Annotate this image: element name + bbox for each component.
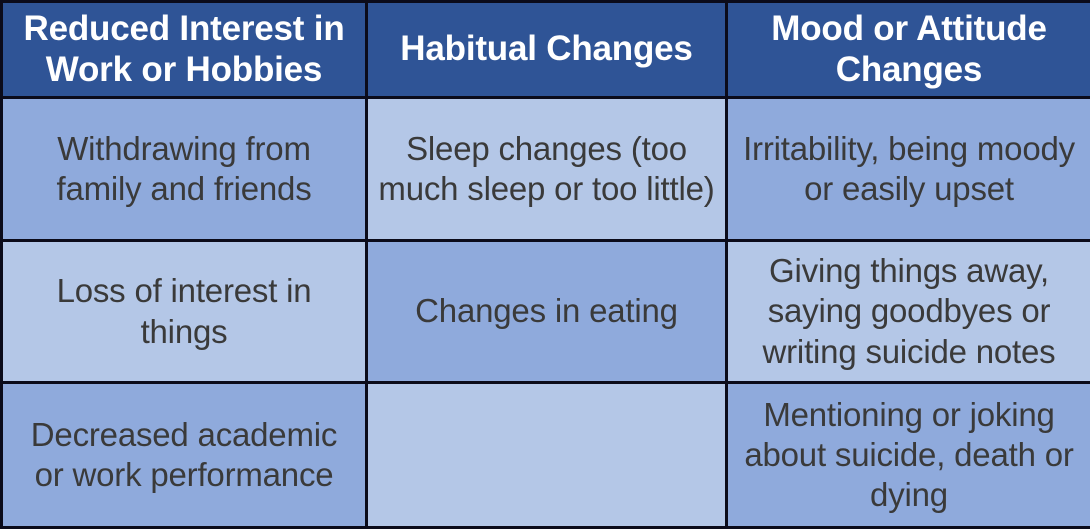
table-body: Withdrawing from family and friends Slee… xyxy=(2,98,1090,528)
cell-r1-c1: Changes in eating xyxy=(367,241,727,383)
cell-r1-c0: Loss of interest in things xyxy=(2,241,367,383)
column-header-reduced-interest: Reduced Interest in Work or Hobbies xyxy=(2,2,367,98)
table-row: Decreased academic or work performance M… xyxy=(2,383,1090,528)
cell-r2-c0: Decreased academic or work performance xyxy=(2,383,367,528)
cell-r0-c1: Sleep changes (too much sleep or too lit… xyxy=(367,98,727,241)
cell-r0-c2: Irritability, being moody or easily upse… xyxy=(727,98,1090,241)
column-header-mood-attitude-changes: Mood or Attitude Changes xyxy=(727,2,1090,98)
header-row: Reduced Interest in Work or Hobbies Habi… xyxy=(2,2,1090,98)
table-header: Reduced Interest in Work or Hobbies Habi… xyxy=(2,2,1090,98)
cell-r2-c2: Mentioning or joking about suicide, deat… xyxy=(727,383,1090,528)
column-header-habitual-changes: Habitual Changes xyxy=(367,2,727,98)
table-row: Loss of interest in things Changes in ea… xyxy=(2,241,1090,383)
table-row: Withdrawing from family and friends Slee… xyxy=(2,98,1090,241)
cell-r1-c2: Giving things away, saying goodbyes or w… xyxy=(727,241,1090,383)
cell-r2-c1 xyxy=(367,383,727,528)
cell-r0-c0: Withdrawing from family and friends xyxy=(2,98,367,241)
warning-signs-table: Reduced Interest in Work or Hobbies Habi… xyxy=(0,0,1090,529)
